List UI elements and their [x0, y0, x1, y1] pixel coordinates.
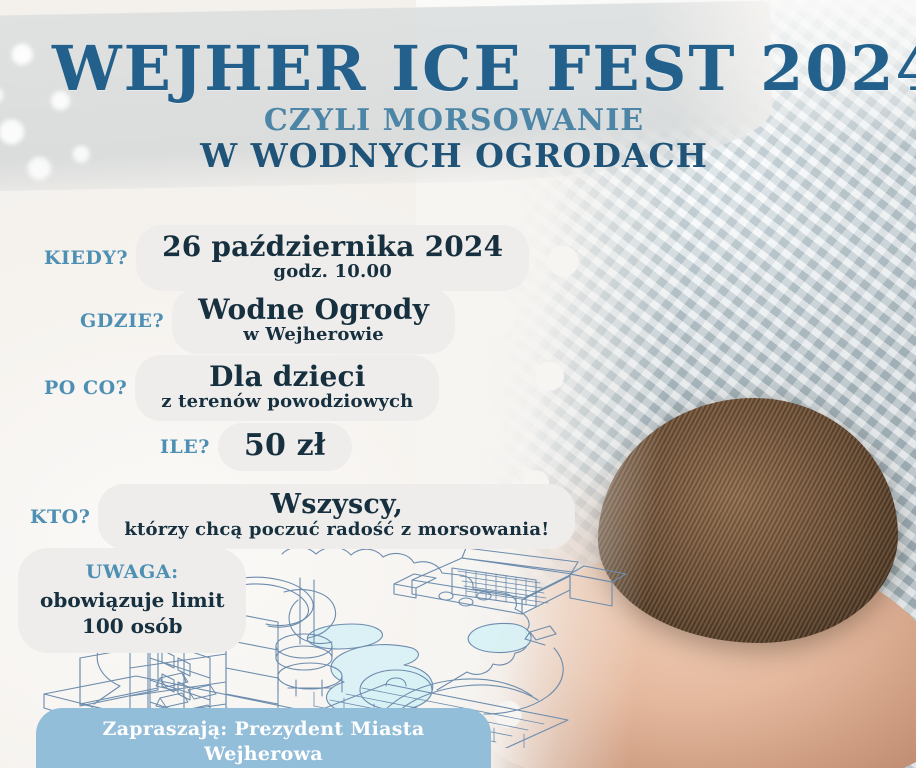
info-label-kto: KTO? [30, 506, 98, 528]
info-value-ile-main: 50 zł [244, 430, 326, 462]
info-value-po-co-main: Dla dzieci [161, 362, 413, 392]
info-label-kiedy: KIEDY? [44, 247, 136, 269]
info-row-po-co: PO CO? Dla dzieci z terenów powodziowych [44, 355, 439, 421]
info-value-kiedy-sub: godz. 10.00 [162, 262, 503, 283]
organizers-banner: Zapraszają: Prezydent Miasta Wejherowa W… [36, 708, 491, 768]
poster-root: WEJHER ICE FEST 2024 CZYLI MORSOWANIE W … [0, 0, 916, 768]
info-value-ile: 50 zł [218, 423, 352, 471]
info-value-kto-sub: którzy chcą poczuć radość z morsowania! [124, 520, 549, 541]
info-row-gdzie: GDZIE? Wodne Ogrody w Wejherowie [80, 288, 455, 354]
organizers-line-1: Zapraszają: Prezydent Miasta Wejherowa [50, 717, 477, 767]
notice-line-2: 100 osób [40, 613, 224, 639]
poster-subtitle-line-1: CZYLI MORSOWANIE [0, 103, 916, 138]
info-value-kto: Wszyscy, którzy chcą poczuć radość z mor… [98, 484, 575, 549]
poster-title: WEJHER ICE FEST 2024 [52, 32, 892, 105]
info-value-po-co-sub: z terenów powodziowych [161, 392, 413, 413]
poster-subtitle-line-2: W WODNYCH OGRODACH [0, 136, 916, 175]
info-value-kto-main: Wszyscy, [124, 491, 549, 520]
notice-line-1: obowiązuje limit [40, 587, 224, 613]
info-value-gdzie-main: Wodne Ogrody [198, 295, 429, 325]
info-label-po-co: PO CO? [44, 377, 135, 399]
info-value-gdzie-sub: w Wejherowie [198, 325, 429, 346]
info-value-kiedy: 26 października 2024 godz. 10.00 [136, 225, 529, 291]
info-row-kto: KTO? Wszyscy, którzy chcą poczuć radość … [30, 484, 575, 549]
info-value-po-co: Dla dzieci z terenów powodziowych [135, 355, 439, 421]
info-row-ile: ILE? 50 zł [160, 423, 352, 471]
notice-block: UWAGA: obowiązuje limit 100 osób [18, 548, 246, 653]
info-label-ile: ILE? [160, 436, 218, 458]
info-row-kiedy: KIEDY? 26 października 2024 godz. 10.00 [44, 225, 529, 291]
info-label-gdzie: GDZIE? [80, 310, 172, 332]
info-value-gdzie: Wodne Ogrody w Wejherowie [172, 288, 455, 354]
notice-heading: UWAGA: [40, 558, 224, 587]
info-value-kiedy-main: 26 października 2024 [162, 232, 503, 262]
